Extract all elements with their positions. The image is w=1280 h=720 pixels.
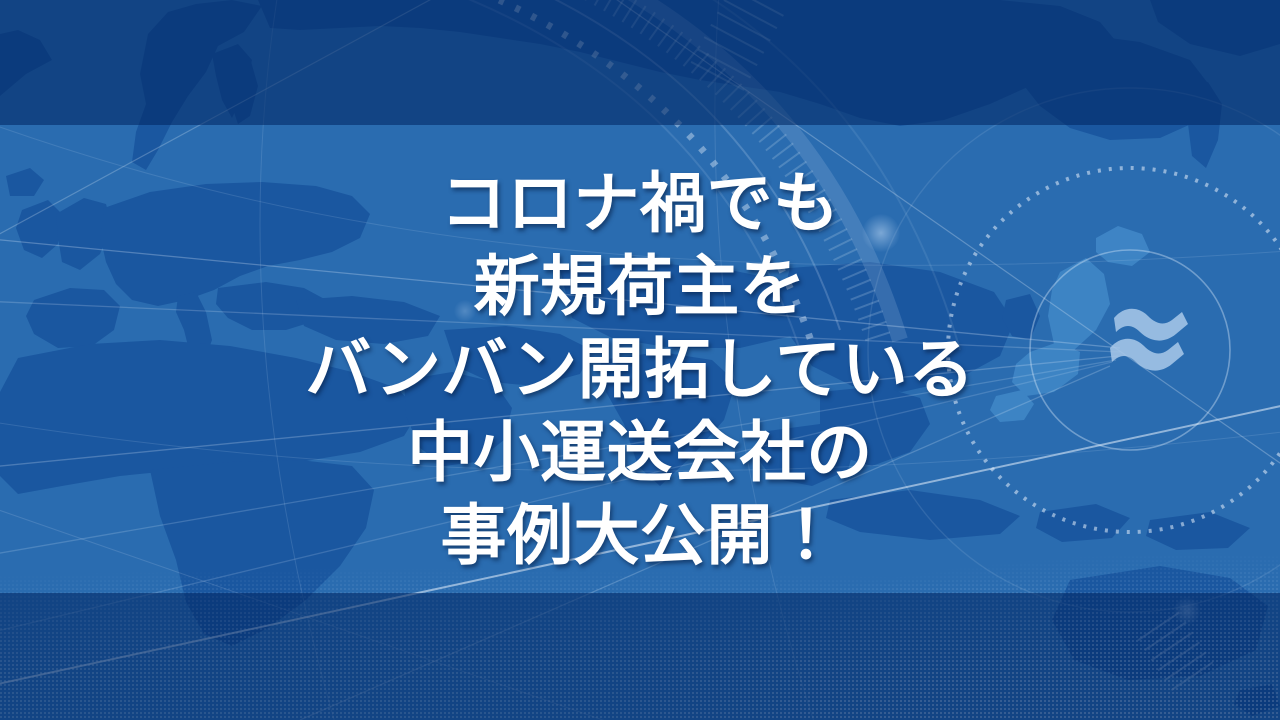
headline-line-4: 中小運送会社の [407,411,873,494]
headline-line-5: 事例大公開！ [441,494,840,577]
headline-block: コロナ禍でも 新規荷主を バンバン開拓している 中小運送会社の 事例大公開！ [0,0,1280,720]
headline-line-2: 新規荷主を [474,245,807,328]
headline-line-1: コロナ禍でも [441,162,840,245]
title-slide: コロナ禍でも 新規荷主を バンバン開拓している 中小運送会社の 事例大公開！ [0,0,1280,720]
headline-line-3: バンバン開拓している [305,328,975,411]
